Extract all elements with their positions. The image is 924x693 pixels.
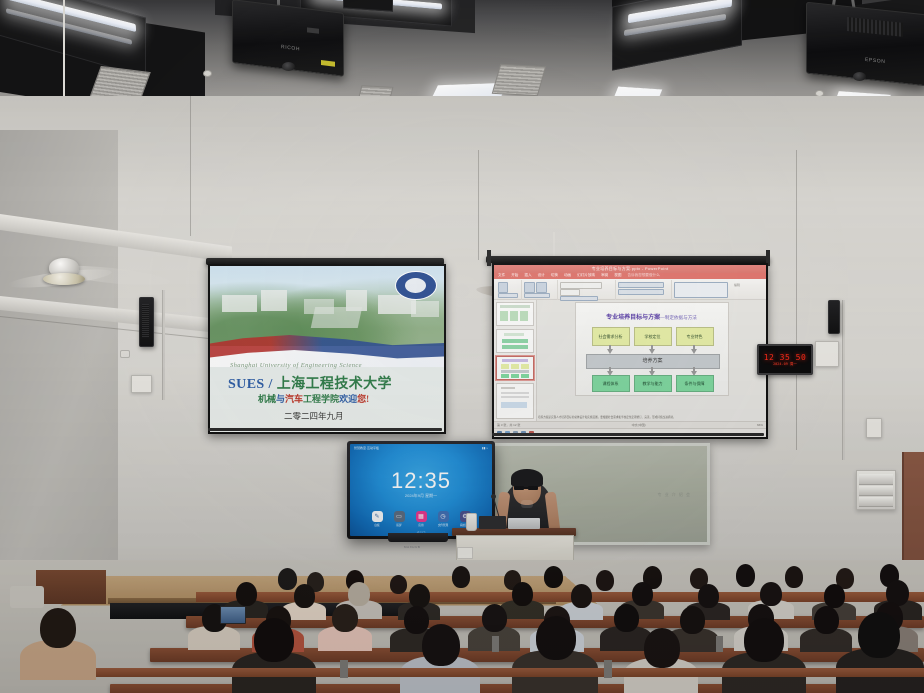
find-label[interactable]: 编辑	[734, 283, 740, 287]
tab-home[interactable]: 开始	[511, 273, 518, 278]
fan-hub-left	[43, 273, 85, 285]
paragraph-row-2[interactable]	[618, 289, 664, 295]
flat-panel-statusbar: 智慧教室·互动平板 ▮▮ ⌁	[354, 446, 488, 450]
screen-right-bracket-l	[487, 250, 491, 266]
conduit-left	[162, 290, 165, 400]
slide-row[interactable]	[524, 293, 550, 298]
wall-speaker-left-grille	[142, 304, 149, 338]
audience-head	[278, 568, 297, 590]
flow-box-r1c1[interactable]: 社会需求分析	[592, 327, 630, 346]
presenter-collar	[521, 500, 533, 508]
cast-screen-icon[interactable]: ▭	[394, 511, 405, 522]
slide-left: Shanghai University of Engineering Scien…	[210, 266, 444, 432]
led-clock-time: 12 35 50	[764, 353, 807, 362]
smoke-detector-1	[203, 70, 212, 77]
app-label-cast: 投屏	[396, 523, 401, 527]
flat-panel-status-right: ▮▮ ⌁	[482, 446, 488, 450]
audience-head	[680, 606, 705, 634]
slide-date: 二零二四年九月	[284, 410, 344, 422]
wall-control-box[interactable]	[815, 341, 839, 367]
presenter-hair	[511, 469, 543, 487]
audience-head	[858, 612, 900, 658]
bag-on-floor	[10, 586, 44, 608]
flow-box-r3c2[interactable]: 教学与能力	[634, 375, 672, 392]
chalkboard-text: 专 业 介 绍 会	[658, 492, 691, 498]
status-zoom[interactable]: 66%	[757, 423, 763, 427]
screen-right-frame: 专业培养目标与方案.pptx - PowerPoint 文件 开始 插入 设计 …	[492, 263, 768, 439]
apps-icon[interactable]: ▦	[416, 511, 427, 522]
audience-head	[512, 582, 533, 606]
audience-head	[294, 584, 315, 608]
projection-screen-right[interactable]: 专业培养目标与方案.pptx - PowerPoint 文件 开始 插入 设计 …	[494, 265, 766, 437]
audience-head	[254, 618, 294, 662]
shapes-gallery[interactable]	[674, 282, 728, 298]
screen-right-weight-bar	[492, 433, 764, 436]
new-slide-icon[interactable]	[524, 282, 535, 293]
slide-r-title: 专业培养目标与方案—制定依据与方法	[576, 312, 728, 321]
app-whiteboard[interactable]: ✎ 白板	[371, 511, 384, 528]
file-manager-icon[interactable]: ◷	[438, 511, 449, 522]
status-language: 中文(中国)	[632, 423, 646, 427]
flat-panel-date: 2024年9月 星期一	[350, 493, 492, 499]
ceiling-camera-left	[120, 350, 130, 358]
tab-view[interactable]: 视图	[614, 273, 621, 278]
led-clock-date: 2024-09 周一	[773, 362, 797, 367]
paste-icon[interactable]	[498, 282, 508, 293]
font-size-select[interactable]	[560, 289, 580, 296]
projector-brand-right: EPSON	[865, 57, 886, 65]
ppt-status-bar: 第 3 张，共 12 张 中文(中国) 66%	[494, 421, 766, 428]
conduit-right	[842, 300, 845, 460]
tab-animations[interactable]: 动画	[564, 273, 571, 278]
flow-box-r3c3[interactable]: 条件与保障	[676, 375, 714, 392]
greenhouse-roof	[311, 307, 362, 328]
projector-brand-left: RICOH	[281, 44, 300, 52]
tab-insert[interactable]: 插入	[524, 273, 531, 278]
slide-thumbnail[interactable]	[496, 383, 534, 419]
audience-head	[536, 616, 576, 660]
flow-box-r3c1[interactable]: 课程体系	[592, 375, 630, 392]
audience-head	[614, 604, 639, 632]
app-label-apps: 应用	[418, 523, 423, 527]
tab-file[interactable]: 文件	[498, 273, 505, 278]
slide-sub-4: 工程学院	[303, 394, 339, 404]
screen-left-frame: Shanghai University of Engineering Scien…	[208, 264, 446, 434]
slide-sub-1: 机械	[258, 394, 276, 404]
ppt-title-bar: 专业培养目标与方案.pptx - PowerPoint	[494, 265, 766, 273]
presenter-glasses-right	[528, 486, 538, 490]
tab-tellme[interactable]: 告诉我您想要做什么	[627, 273, 659, 278]
projection-screen-left[interactable]: Shanghai University of Engineering Scien…	[210, 266, 444, 432]
audience-head	[698, 584, 719, 608]
projector-grille-right	[847, 17, 903, 37]
bench-leg	[604, 660, 612, 678]
audience-head	[736, 564, 755, 587]
layout-icon[interactable]	[536, 282, 547, 293]
tab-transitions[interactable]: 切换	[551, 273, 558, 278]
audience-head	[422, 624, 460, 666]
campus-photo	[210, 266, 444, 346]
audience-head	[404, 606, 429, 634]
university-crest	[395, 271, 437, 300]
slide-title-en: SUES	[228, 377, 265, 392]
slide-r-title-main: 专业培养目标与方案	[606, 315, 660, 321]
bench-leg	[340, 660, 348, 678]
app-label-files: 文件管理	[438, 523, 448, 527]
slide-english-title: Shanghai University of Engineering Scien…	[230, 362, 362, 369]
slide-thumbnail[interactable]	[496, 302, 534, 326]
slide-sub-5: 欢迎	[339, 394, 357, 404]
ppt-workspace: 专业培养目标与方案—制定依据与方法 社会需求分析 学校定位 专业特色 培	[494, 300, 766, 421]
audience-head	[332, 604, 358, 632]
projector-vent-left	[307, 27, 319, 33]
audience-head	[824, 584, 845, 608]
whiteboard-icon[interactable]: ✎	[372, 511, 383, 522]
font-style-row[interactable]	[560, 296, 598, 301]
audience-head	[785, 566, 803, 588]
bench-leg	[492, 636, 499, 652]
audience-head	[236, 582, 257, 606]
led-wall-clock: 12 35 50 2024-09 周一	[757, 344, 813, 375]
slide-r-title-suffix: —制定依据与方法	[660, 315, 697, 320]
font-family-select[interactable]	[560, 282, 602, 289]
paragraph-row-1[interactable]	[618, 282, 664, 288]
audience-head	[390, 575, 407, 594]
junction-box-right	[866, 418, 882, 438]
stage-step-left	[36, 570, 106, 604]
lectern-side-panel	[457, 547, 473, 559]
audience-head	[409, 584, 430, 608]
app-files[interactable]: ◷ 文件管理	[437, 511, 450, 528]
audience-head	[644, 628, 680, 668]
tab-review[interactable]: 审阅	[601, 273, 608, 278]
lecture-hall-photo: RICOH EPSON	[0, 0, 924, 693]
audience-head-cap	[348, 582, 370, 606]
audience-head	[544, 566, 563, 588]
ppt-window-title: 专业培养目标与方案.pptx - PowerPoint	[592, 266, 669, 272]
app-label-whiteboard: 白板	[374, 523, 379, 527]
projector-lens-left	[282, 62, 295, 71]
slide-subtitle: 机械与汽车工程学院欢迎您!	[258, 392, 369, 405]
flat-panel-clock: 12:35	[350, 468, 492, 494]
flow-box-middle[interactable]: 培养方案	[586, 354, 720, 369]
bench-desk-front	[96, 668, 924, 677]
wall-seam-2	[478, 150, 479, 260]
powerpoint-window[interactable]: 专业培养目标与方案.pptx - PowerPoint 文件 开始 插入 设计 …	[494, 265, 766, 437]
audience-head	[452, 566, 470, 588]
audience-head	[632, 582, 653, 606]
slide-title-cn: 上海工程技术大学	[277, 377, 392, 392]
ppt-ribbon[interactable]: 编辑	[494, 279, 766, 301]
audience-laptop	[220, 606, 246, 624]
screen-right-housing	[486, 256, 770, 263]
audience-head	[760, 582, 782, 606]
flow-box-r1c3[interactable]: 专业特色	[676, 327, 714, 346]
projector-sticker-left	[321, 60, 335, 67]
audience-head	[814, 606, 839, 634]
wall-air-vent	[856, 470, 896, 510]
flat-panel-status-left: 智慧教室·互动平板	[354, 446, 379, 450]
app-cast[interactable]: ▭ 投屏	[393, 511, 406, 528]
clipboard-row[interactable]	[498, 293, 518, 298]
wall-speaker-right	[828, 300, 840, 334]
audience-head	[40, 608, 76, 648]
wall-seam-1	[190, 96, 191, 236]
audience-head	[482, 604, 507, 632]
projector-lens-right	[853, 72, 866, 81]
lectern-control-panel[interactable]	[479, 516, 506, 529]
presenter-glasses-bridge	[523, 487, 529, 489]
audience-head	[744, 618, 784, 662]
slide-title-sep: /	[269, 377, 273, 392]
slide-sub-2: 与	[276, 394, 285, 404]
microphone-head	[491, 494, 496, 499]
left-wall	[0, 130, 118, 600]
flat-panel-brand: MAXHUB	[404, 535, 420, 553]
slide-sub-6: 您!	[357, 394, 369, 404]
bench-leg	[716, 636, 723, 652]
junction-box-left	[131, 375, 152, 393]
slide-thumbnail-selected[interactable]	[496, 356, 534, 380]
tab-slideshow[interactable]: 幻灯片放映	[577, 273, 595, 278]
wall-seam-3	[796, 150, 797, 450]
ceiling-vent-right	[492, 64, 547, 96]
slide-sub-3: 汽车	[285, 394, 303, 404]
water-cup[interactable]	[466, 513, 477, 531]
audience-head	[571, 584, 592, 608]
tab-design[interactable]: 设计	[538, 273, 545, 278]
lectern-laptop[interactable]	[508, 518, 540, 529]
slide-thumbnail[interactable]	[496, 329, 534, 353]
screen-left-weight-bar	[208, 428, 442, 431]
flow-box-r1c2[interactable]: 学校定位	[634, 327, 672, 346]
slide-footnote: 培养方案是实现人才培养目标的总体设计和实施蓝图，要根据社会需求和学校定位定期修订…	[534, 416, 764, 420]
slide-editing-canvas[interactable]: 专业培养目标与方案—制定依据与方法 社会需求分析 学校定位 专业特色 培	[575, 302, 729, 396]
slide-thumbnail-panel[interactable]	[494, 300, 537, 421]
app-apps[interactable]: ▦ 应用	[415, 511, 428, 528]
ppt-slide-stage[interactable]: 专业培养目标与方案—制定依据与方法 社会需求分析 学校定位 专业特色 培	[537, 300, 766, 421]
audience-head	[596, 570, 614, 591]
slide-main-title: SUES / 上海工程技术大学	[228, 373, 392, 393]
status-slide-count: 第 3 张，共 12 张	[497, 423, 520, 427]
